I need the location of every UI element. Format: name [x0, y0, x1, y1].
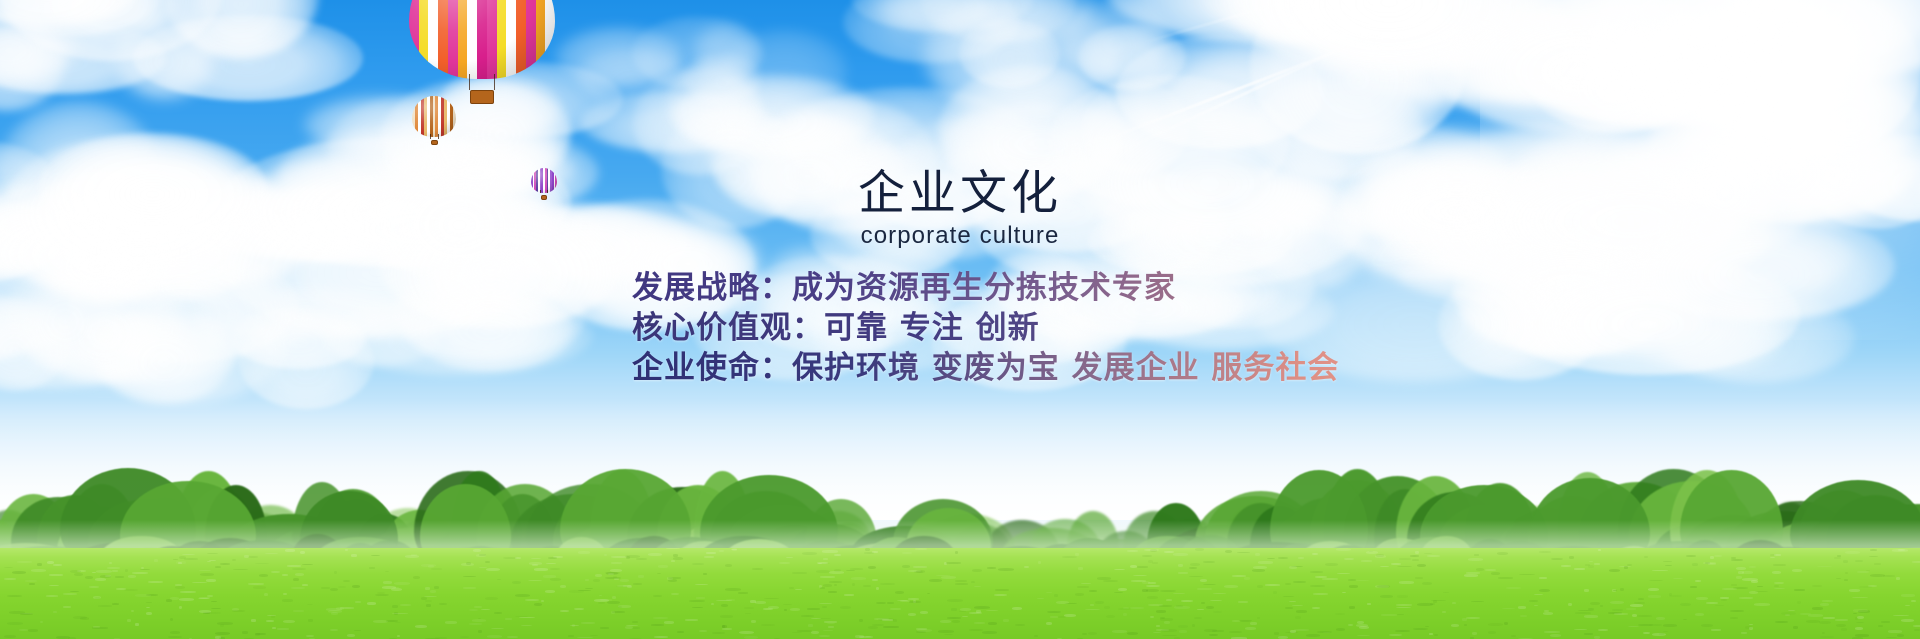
grass-blade: [752, 568, 763, 570]
grass-blade: [548, 557, 557, 559]
grass-blade: [1285, 583, 1291, 585]
grass-blade: [633, 583, 642, 585]
grass-blade: [1337, 573, 1350, 574]
grass-blade: [880, 583, 895, 585]
grass-blade: [1434, 634, 1438, 636]
grass-blade: [1425, 626, 1429, 627]
grass-blade: [1209, 634, 1218, 636]
grass-blade: [285, 549, 295, 552]
grass-blade: [132, 572, 148, 574]
grass-blade: [1626, 608, 1636, 610]
grass-blade: [1399, 581, 1414, 584]
grass-blade: [827, 623, 835, 624]
grass-blade: [654, 636, 668, 638]
grass-blade: [1255, 553, 1260, 556]
grass-blade: [692, 607, 703, 608]
grass-blade: [1348, 579, 1356, 581]
grass-blade: [593, 579, 600, 582]
grass-blade: [1357, 621, 1364, 624]
grass-blade: [744, 607, 754, 609]
grass-blade: [1736, 576, 1742, 579]
grass-blade: [347, 634, 355, 637]
grass-blade: [135, 623, 139, 626]
grass-blade: [1598, 629, 1608, 631]
grass-blade: [618, 606, 622, 608]
grass-blade: [960, 608, 971, 611]
grass-blade: [215, 632, 230, 635]
grass-blade: [1797, 601, 1801, 604]
grass-blade: [154, 559, 158, 562]
grass-blade: [1620, 588, 1624, 591]
grass-blade: [890, 608, 901, 610]
grass-blade: [1088, 632, 1097, 635]
grass-blade: [739, 631, 754, 634]
grass-blade: [1901, 594, 1915, 597]
grass-blade: [941, 576, 956, 579]
grass-blade: [1775, 621, 1788, 623]
grass-blade: [1539, 551, 1551, 553]
grass-blade: [1470, 637, 1474, 639]
grass-blade: [179, 598, 194, 601]
grass-blade: [600, 599, 612, 601]
grass-blade: [651, 624, 664, 626]
grass-blade: [95, 578, 106, 581]
grass-blade: [1869, 556, 1878, 557]
grass-blade: [494, 612, 502, 614]
grass-blade: [354, 630, 361, 631]
grass-blade: [816, 570, 830, 573]
grass-blade: [1841, 628, 1847, 631]
grass-blade: [345, 549, 348, 551]
grass-blade: [541, 600, 544, 602]
grass-blade: [1104, 606, 1110, 609]
grass-blade: [1197, 588, 1212, 590]
grass-blade: [653, 595, 662, 597]
grass-blade: [807, 608, 820, 610]
grass-blade: [1285, 607, 1293, 609]
grass-blade: [1464, 624, 1467, 626]
grass-blade: [1506, 587, 1521, 589]
grass-blade: [994, 594, 1007, 596]
grass-blade: [972, 569, 982, 572]
grass-blade: [248, 583, 264, 585]
grass-blade: [330, 629, 338, 631]
grass-blade: [1213, 593, 1226, 594]
grass-blade: [657, 573, 661, 574]
grass-blade: [431, 568, 442, 570]
grass-blade: [1822, 600, 1833, 602]
grass-blade: [1886, 637, 1897, 638]
grass-blade: [425, 587, 430, 590]
grass-blade: [1194, 617, 1202, 619]
grass-blade: [302, 564, 313, 565]
grass-blade: [1609, 569, 1620, 572]
grass-blade: [725, 588, 741, 591]
grass-blade: [53, 611, 57, 613]
grass-blade: [611, 562, 622, 564]
grass-blade: [255, 563, 269, 564]
grass-blade: [751, 620, 756, 623]
grass-blade: [394, 582, 410, 585]
grass-blade: [355, 601, 361, 603]
grass-blade: [947, 599, 963, 602]
grass-blade: [369, 567, 375, 569]
grass-blade: [636, 558, 647, 560]
grass-blade: [1130, 565, 1137, 568]
grass-blade: [1322, 578, 1338, 580]
grass-blade: [415, 625, 427, 628]
grass-blade: [1710, 556, 1714, 559]
grass-blade: [1539, 577, 1547, 579]
grass-blade: [784, 609, 787, 611]
grass-blade: [1442, 611, 1446, 613]
grass-blade: [330, 588, 338, 591]
grass-blade: [4, 567, 13, 568]
grass-blade: [1898, 549, 1905, 551]
grass-blade: [383, 581, 392, 584]
grass-blade: [1630, 604, 1643, 607]
grass-blade: [795, 589, 802, 590]
grass-blade: [1464, 574, 1478, 577]
grass-blade: [822, 606, 827, 608]
grass-blade: [944, 634, 953, 635]
grass-blade: [125, 569, 128, 572]
grass-blade: [1189, 576, 1203, 577]
grass-blade: [720, 615, 733, 618]
grass-blade: [695, 584, 708, 585]
grass-blade: [199, 597, 210, 599]
grass-blade: [338, 586, 346, 588]
grass-blade: [1836, 578, 1841, 579]
grass-blade: [940, 620, 951, 623]
grass-blade: [1179, 630, 1187, 633]
grass-blade: [1118, 608, 1131, 610]
grass-blade: [1837, 555, 1841, 557]
grass-blade: [1213, 611, 1222, 613]
grass-blade: [1237, 552, 1250, 553]
grass-blade: [272, 627, 276, 629]
grass-blade: [828, 626, 834, 628]
grass-blade: [486, 568, 500, 571]
grass-blade: [445, 621, 457, 624]
grass-blade: [1644, 556, 1648, 558]
grass-blade: [1757, 586, 1763, 587]
grass-blade: [49, 574, 63, 576]
grass-blade: [1164, 621, 1170, 624]
grass-blade: [908, 598, 919, 600]
grass-blade: [789, 587, 794, 589]
grass-blade: [1173, 553, 1188, 556]
grass-blade: [532, 564, 538, 566]
grass-blade: [1381, 614, 1397, 616]
grass-blade: [1114, 569, 1125, 570]
grass-blade: [829, 581, 842, 583]
grass-blade: [1569, 556, 1574, 559]
grass-blade: [1397, 595, 1408, 598]
grass-blade: [1245, 627, 1256, 630]
grass-blade: [1673, 578, 1683, 579]
grass-blade: [846, 570, 855, 571]
grass-blade: [819, 635, 830, 637]
grass-blade: [1812, 607, 1823, 610]
grass-blade: [180, 591, 196, 593]
grass-blade: [1589, 561, 1593, 562]
grass-blade: [170, 631, 180, 634]
grass-blade: [1451, 624, 1459, 627]
grass-blade: [595, 574, 602, 577]
grass-blade: [28, 629, 38, 632]
grass-blade: [725, 564, 732, 567]
grass-blade: [632, 621, 638, 623]
grass-blade: [1312, 607, 1320, 609]
grass-blade: [1178, 625, 1188, 628]
grass-blade: [507, 636, 518, 638]
grass-blade: [1106, 615, 1115, 618]
grass-blade: [1628, 626, 1639, 627]
grass-blade: [1267, 558, 1275, 559]
grass-blade: [1870, 549, 1877, 551]
grass-blade: [485, 561, 490, 563]
grass-blade: [761, 624, 775, 626]
grass-blade: [1497, 552, 1508, 555]
grass-blade: [1551, 558, 1563, 560]
grass-blade: [1511, 635, 1516, 637]
grass-blade: [1356, 580, 1369, 581]
grass-blade: [865, 548, 870, 551]
grass-blade: [1812, 585, 1822, 587]
grass-blade: [248, 556, 258, 558]
grass-blade: [1003, 619, 1009, 622]
grass-blade: [1853, 609, 1868, 612]
grass-blade: [1652, 570, 1668, 571]
grass-blade: [1342, 592, 1346, 593]
grass-blade: [1415, 551, 1419, 554]
grass-blade: [4, 635, 16, 638]
grass-blade: [1417, 564, 1426, 567]
grass-blade: [1819, 621, 1831, 624]
grass-blade: [211, 601, 217, 602]
grass-blade: [1770, 557, 1775, 558]
grass-blade: [1114, 592, 1123, 593]
grass-blade: [1600, 605, 1603, 607]
grass-blade: [1146, 589, 1159, 592]
grass-blade: [1038, 561, 1041, 564]
grass-blade: [581, 622, 595, 624]
grass-blade: [1706, 602, 1718, 604]
grass-blade: [811, 618, 821, 619]
grass-blade: [820, 587, 825, 589]
grass-blade: [895, 591, 904, 594]
grass-blade: [293, 578, 299, 581]
grass-blade: [1118, 588, 1127, 591]
grass-blade: [1471, 601, 1484, 602]
grass-blade: [820, 576, 835, 578]
grass-blade: [704, 556, 714, 558]
grass-blade: [974, 586, 981, 587]
grass-blade: [900, 600, 910, 602]
grass-blade: [53, 564, 62, 566]
grass-blade: [560, 610, 569, 612]
grass-blade: [1544, 631, 1560, 633]
grass-blade: [627, 585, 632, 588]
sky-background: [0, 0, 1920, 520]
grass-blade: [1085, 609, 1100, 610]
grass-blade: [1015, 624, 1025, 626]
grass-blade: [1836, 624, 1846, 627]
grass-blade: [4, 578, 16, 580]
grass-blade: [863, 585, 871, 587]
grass-blade: [1590, 602, 1600, 605]
grass-blade: [1146, 585, 1160, 587]
grass-blade: [1584, 615, 1598, 618]
grass-blade: [808, 624, 813, 627]
grass-blade: [1901, 619, 1914, 622]
grass-blade: [282, 599, 293, 602]
grass-blade: [512, 581, 521, 584]
grass-blade: [1857, 571, 1869, 573]
grass-blade: [264, 593, 268, 596]
grass-blade: [692, 563, 704, 565]
grass-blade: [699, 630, 707, 632]
grass-blade: [17, 561, 32, 563]
grass-blade: [1788, 610, 1795, 611]
grass-blade: [1792, 569, 1802, 572]
grass-blade: [233, 569, 248, 570]
grass-blade: [1103, 580, 1118, 582]
grass-blade: [1534, 605, 1538, 606]
grass-blade: [568, 635, 574, 637]
grass-blade: [1203, 584, 1216, 585]
grass-blade: [1238, 601, 1248, 603]
grass-blade: [1663, 624, 1677, 627]
grass-blade: [1224, 585, 1238, 588]
grass-field: [0, 548, 1920, 639]
grass-blade: [719, 550, 724, 552]
grass-blade: [1575, 612, 1591, 614]
grass-blade: [872, 579, 878, 581]
grass-blade: [1870, 574, 1885, 577]
grass-blade: [1278, 557, 1288, 559]
grass-blade: [146, 612, 152, 615]
grass-blade: [1075, 593, 1084, 596]
grass-blade: [1648, 588, 1659, 591]
grass-blade: [1504, 622, 1508, 625]
grass-blade: [70, 591, 79, 592]
grass-blade: [611, 611, 615, 614]
grass-blade: [170, 597, 179, 600]
grass-blade: [811, 631, 819, 634]
grass-blade: [1265, 584, 1280, 586]
grass-blade: [1410, 555, 1419, 557]
grass-blade: [1148, 560, 1153, 563]
grass-blade: [572, 624, 575, 627]
grass-blade: [283, 620, 295, 623]
grass-blade: [1742, 578, 1758, 581]
grass-blade: [677, 631, 684, 633]
grass-blade: [988, 622, 997, 625]
grass-blade: [109, 562, 112, 564]
grass-blade: [1037, 598, 1044, 599]
grass-blade: [397, 635, 400, 637]
grass-blade: [259, 574, 268, 577]
grass-blade: [938, 630, 954, 633]
grass-blade: [1686, 555, 1696, 557]
grass-blade: [779, 562, 790, 564]
grass-blade: [300, 551, 305, 554]
grass-blade: [545, 590, 555, 593]
grass-blade: [1708, 563, 1716, 565]
grass-blade: [1731, 559, 1743, 561]
grass-blade: [308, 619, 313, 622]
grass-blade: [1078, 567, 1083, 570]
grass-blade: [413, 576, 420, 579]
grass-blade: [211, 608, 221, 609]
grass-blade: [1711, 629, 1721, 631]
grass-blade: [1123, 613, 1127, 616]
grass-blade: [1412, 559, 1419, 561]
grass-blade: [613, 576, 617, 578]
grass-blade: [107, 567, 120, 569]
grass-blade: [828, 591, 837, 593]
grass-blade: [1289, 601, 1296, 602]
grass-blade: [112, 570, 118, 572]
grass-blade: [100, 575, 111, 578]
grass-blade: [908, 613, 916, 616]
grass-blade: [560, 585, 566, 588]
grass-blade: [85, 576, 93, 579]
grass-blade: [1336, 548, 1351, 551]
grass-blade: [844, 594, 854, 596]
grass-blade: [868, 626, 878, 629]
grass-blade: [1820, 603, 1829, 606]
grass-blade: [834, 584, 837, 586]
grass-blade: [1159, 605, 1172, 607]
grass-blade: [1244, 577, 1250, 580]
grass-blade: [986, 610, 998, 611]
grass-blade: [851, 577, 866, 580]
grass-blade: [1257, 617, 1260, 619]
grass-blade: [1312, 553, 1318, 555]
grass-blade: [175, 586, 185, 589]
grass-blade: [599, 595, 602, 596]
grass-blade: [658, 565, 668, 568]
grass-blade: [331, 612, 338, 615]
grass-blade: [1820, 636, 1834, 638]
grass-blade: [1808, 614, 1823, 617]
grass-blade: [220, 563, 230, 565]
grass-blade: [478, 630, 482, 633]
grass-blade: [215, 636, 221, 639]
grass-blade: [1380, 595, 1393, 598]
grass-blade: [1736, 567, 1746, 570]
grass-blade: [790, 608, 800, 611]
grass-blade: [1283, 596, 1294, 597]
grass-blade: [1095, 601, 1104, 604]
grass-blade: [1806, 620, 1820, 623]
grass-blade: [611, 556, 627, 558]
grass-blade: [1313, 593, 1328, 595]
grass-blade: [1721, 599, 1727, 601]
grass-blade: [1793, 626, 1798, 629]
grass-blade: [909, 601, 921, 603]
grass-blade: [689, 600, 705, 602]
grass-blade: [706, 552, 716, 554]
grass-blade: [148, 581, 163, 583]
grass-blade: [1375, 555, 1386, 558]
grass-blade: [653, 617, 668, 619]
grass-blade: [802, 552, 817, 555]
grass-blade: [479, 554, 486, 556]
